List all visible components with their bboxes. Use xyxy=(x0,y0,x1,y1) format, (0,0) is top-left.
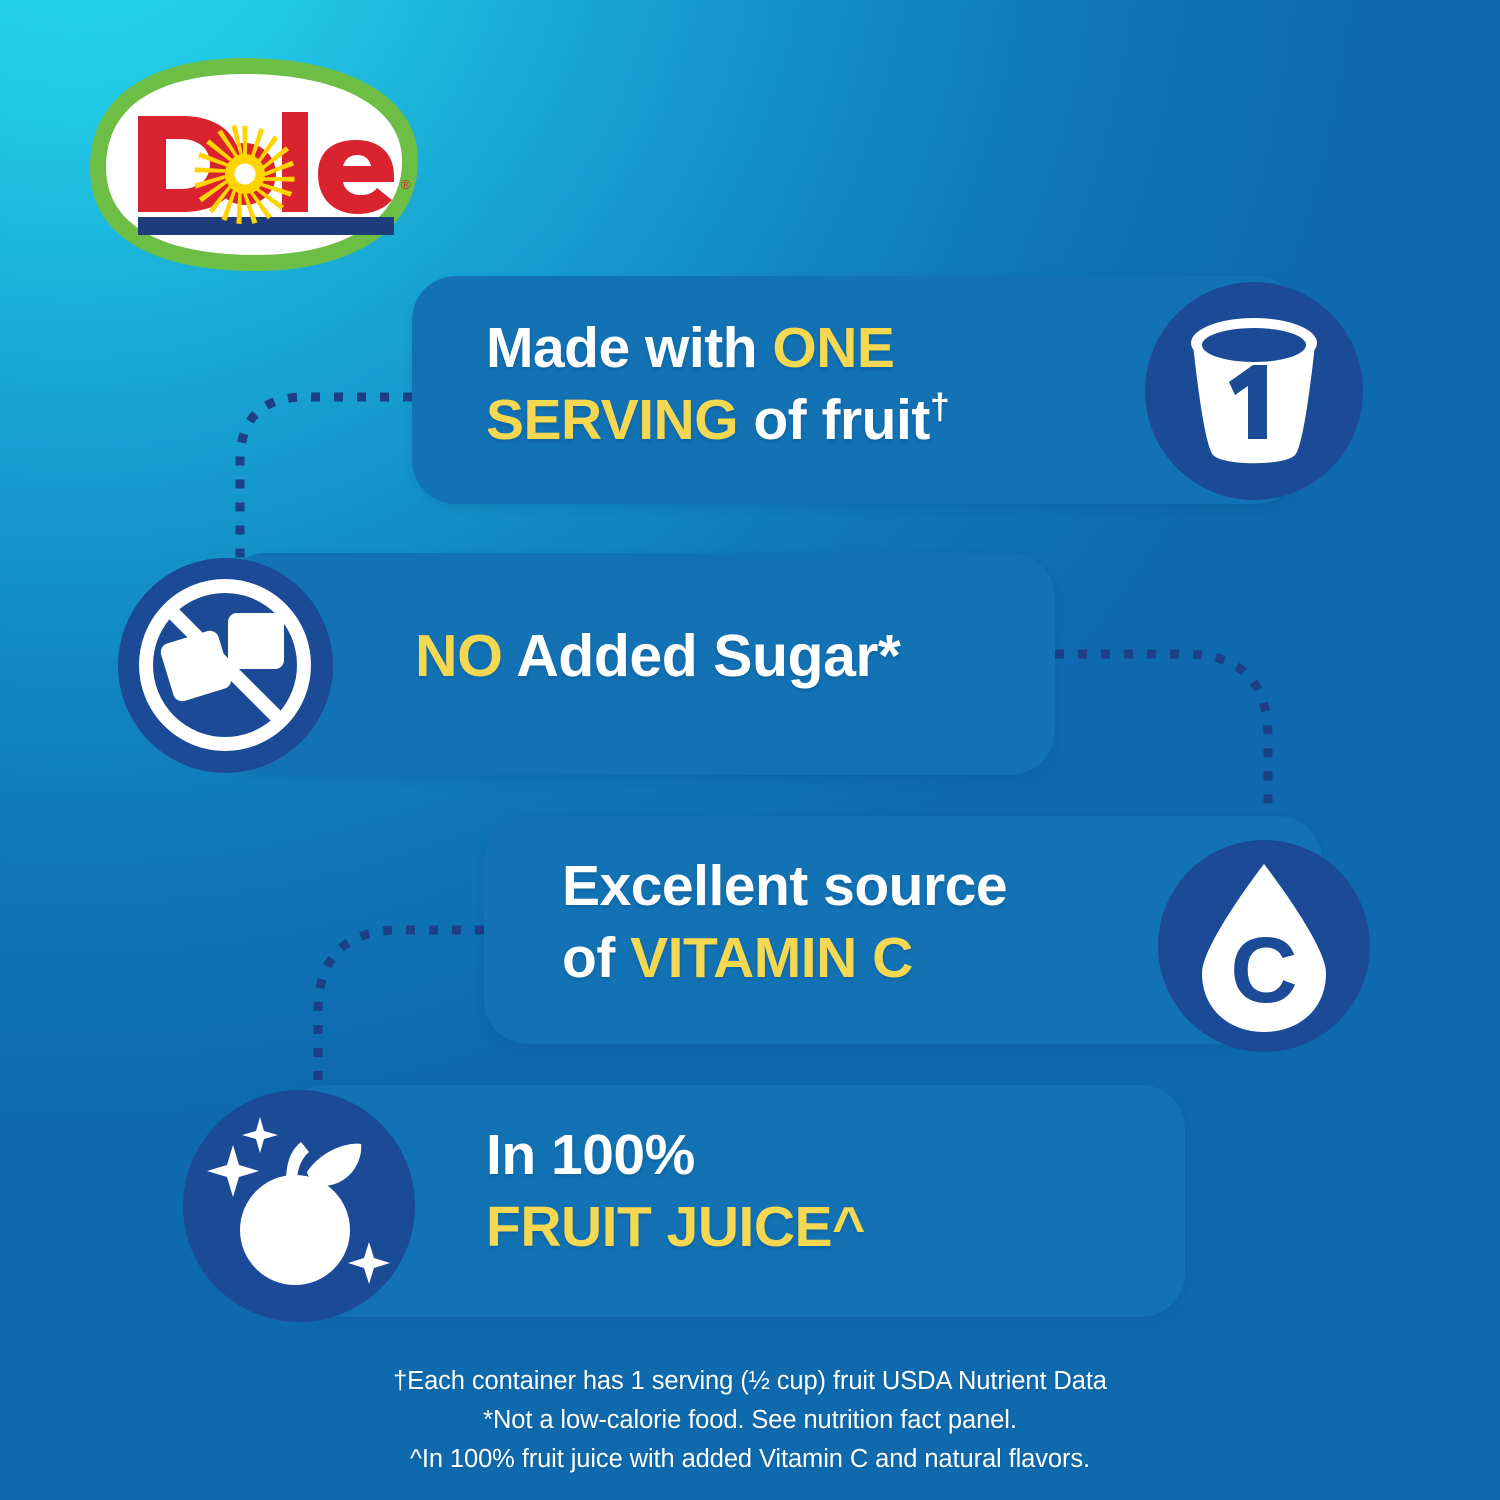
dole-logo-svg: ® xyxy=(70,52,438,277)
claim-line: In 100% xyxy=(486,1125,1126,1185)
vitamin-c-letter: C xyxy=(1230,918,1297,1022)
claim-segment-emphasis: VITAMIN C xyxy=(630,926,913,990)
fruit-cup-icon xyxy=(1145,282,1363,500)
icon-bubble-no-added-sugar[interactable] xyxy=(118,558,333,773)
footnote-line-2: *Not a low-calorie food. See nutrition f… xyxy=(0,1401,1500,1440)
claim-text-one-serving: Made with ONE SERVING of fruit† xyxy=(486,318,1086,451)
navy-bar xyxy=(138,217,394,235)
claim-segment-emphasis: ONE xyxy=(772,316,894,380)
claim-segment: of xyxy=(562,926,630,990)
icon-bubble-vitamin-c[interactable]: C xyxy=(1158,840,1370,1052)
claim-dagger: † xyxy=(930,386,950,427)
connector-1-to-2 xyxy=(240,397,412,560)
claim-segment: Made with xyxy=(486,316,772,380)
connector-3-to-4 xyxy=(318,930,484,1100)
claim-line: FRUIT JUICE^ xyxy=(486,1197,1126,1257)
footnote-line-1: †Each container has 1 serving (½ cup) fr… xyxy=(0,1362,1500,1401)
claim-segment: of fruit xyxy=(738,388,930,452)
claim-line: Made with ONE xyxy=(486,318,1086,378)
claim-line: of VITAMIN C xyxy=(562,928,1172,988)
claim-line: NO Added Sugar* xyxy=(415,625,1055,688)
letter-e xyxy=(318,140,394,214)
claim-line: SERVING of fruit† xyxy=(486,388,1086,450)
letter-l xyxy=(282,112,308,212)
icon-bubble-one-serving[interactable] xyxy=(1145,282,1363,500)
claim-text-vitamin-c: Excellent source of VITAMIN C xyxy=(562,856,1172,989)
claim-segment: In 100% xyxy=(486,1123,695,1187)
dole-logo: ® xyxy=(70,52,438,277)
claim-text-no-added-sugar: NO Added Sugar* xyxy=(415,625,1055,688)
claim-segment: Added Sugar* xyxy=(503,623,901,689)
no-sugar-icon xyxy=(118,558,333,773)
claim-segment-emphasis: SERVING xyxy=(486,388,738,452)
footnotes: †Each container has 1 serving (½ cup) fr… xyxy=(0,1362,1500,1478)
claim-line: Excellent source xyxy=(562,856,1172,916)
icon-bubble-fruit-juice[interactable] xyxy=(183,1090,415,1322)
fruit-sparkle-icon xyxy=(183,1090,415,1322)
infographic-canvas: ® xyxy=(0,0,1500,1500)
claim-segment-emphasis: FRUIT JUICE^ xyxy=(486,1195,865,1259)
claim-text-fruit-juice: In 100% FRUIT JUICE^ xyxy=(486,1125,1126,1258)
footnote-line-3: ^In 100% fruit juice with added Vitamin … xyxy=(0,1440,1500,1479)
claim-segment: Excellent source xyxy=(562,854,1007,918)
vitamin-c-droplet-icon: C xyxy=(1158,840,1370,1052)
registered-mark: ® xyxy=(401,177,411,192)
claim-segment-emphasis: NO xyxy=(415,623,503,689)
